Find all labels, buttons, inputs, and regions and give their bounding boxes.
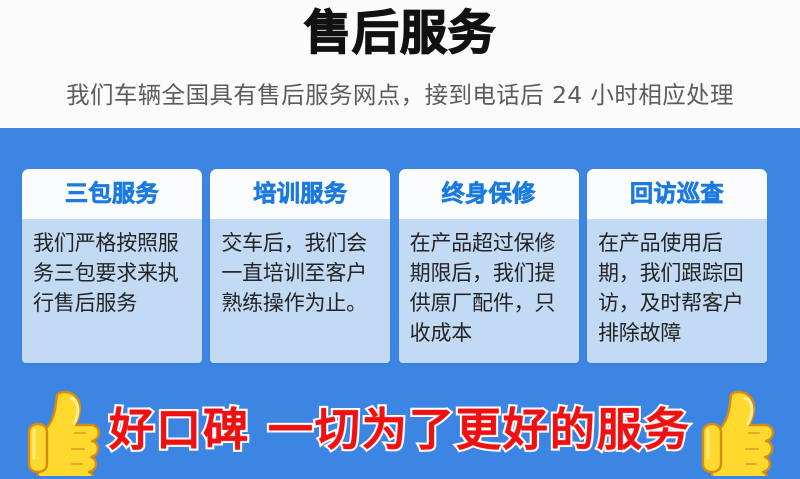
- service-cards-row: 三包服务 我们严格按照服务三包要求来执行售后服务 培训服务 交车后，我们会一直培…: [22, 169, 767, 363]
- service-card-body: 交车后，我们会一直培训至客户熟练操作为止。: [210, 219, 390, 363]
- service-card-sanbao[interactable]: 三包服务 我们严格按照服务三包要求来执行售后服务: [22, 169, 202, 363]
- service-card-title: 终身保修: [442, 181, 536, 207]
- service-card-header: 三包服务: [22, 169, 202, 219]
- service-card-header: 终身保修: [399, 169, 579, 219]
- service-card-title: 回访巡查: [630, 181, 724, 207]
- service-card-training[interactable]: 培训服务 交车后，我们会一直培训至客户熟练操作为止。: [210, 169, 390, 363]
- service-card-description: 交车后，我们会一直培训至客户熟练操作为止。: [221, 228, 380, 318]
- service-card-title: 培训服务: [253, 181, 347, 207]
- service-card-title: 三包服务: [65, 181, 159, 207]
- page-subtitle: 我们车辆全国具有售后服务网点，接到电话后 24 小时相应处理: [0, 78, 800, 112]
- service-card-followup-inspection[interactable]: 回访巡查 在产品使用后期，我们跟踪回访，及时帮客户排除故障: [587, 169, 767, 363]
- service-card-header: 回访巡查: [587, 169, 767, 219]
- thumbs-up-icon: [699, 386, 775, 476]
- page-header: 售后服务 我们车辆全国具有售后服务网点，接到电话后 24 小时相应处理: [0, 0, 800, 128]
- service-card-lifetime-warranty[interactable]: 终身保修 在产品超过保修期限后，我们提供原厂配件，只收成本: [399, 169, 579, 363]
- service-card-description: 我们严格按照服务三包要求来执行售后服务: [33, 228, 192, 318]
- slogan-text: 好口碑 一切为了更好的服务: [109, 400, 691, 462]
- service-card-description: 在产品使用后期，我们跟踪回访，及时帮客户排除故障: [598, 228, 757, 348]
- service-card-body: 在产品使用后期，我们跟踪回访，及时帮客户排除故障: [587, 219, 767, 363]
- promo-banner-page: 售后服务 我们车辆全国具有售后服务网点，接到电话后 24 小时相应处理 三包服务…: [0, 0, 800, 479]
- service-card-description: 在产品超过保修期限后，我们提供原厂配件，只收成本: [410, 228, 569, 348]
- service-card-header: 培训服务: [210, 169, 390, 219]
- page-title: 售后服务: [0, 4, 800, 64]
- slogan-banner: 好口碑 一切为了更好的服务: [0, 383, 800, 479]
- service-card-body: 在产品超过保修期限后，我们提供原厂配件，只收成本: [399, 219, 579, 363]
- thumbs-up-icon: [25, 386, 101, 476]
- service-card-body: 我们严格按照服务三包要求来执行售后服务: [22, 219, 202, 363]
- blue-content-area: 三包服务 我们严格按照服务三包要求来执行售后服务 培训服务 交车后，我们会一直培…: [0, 128, 800, 479]
